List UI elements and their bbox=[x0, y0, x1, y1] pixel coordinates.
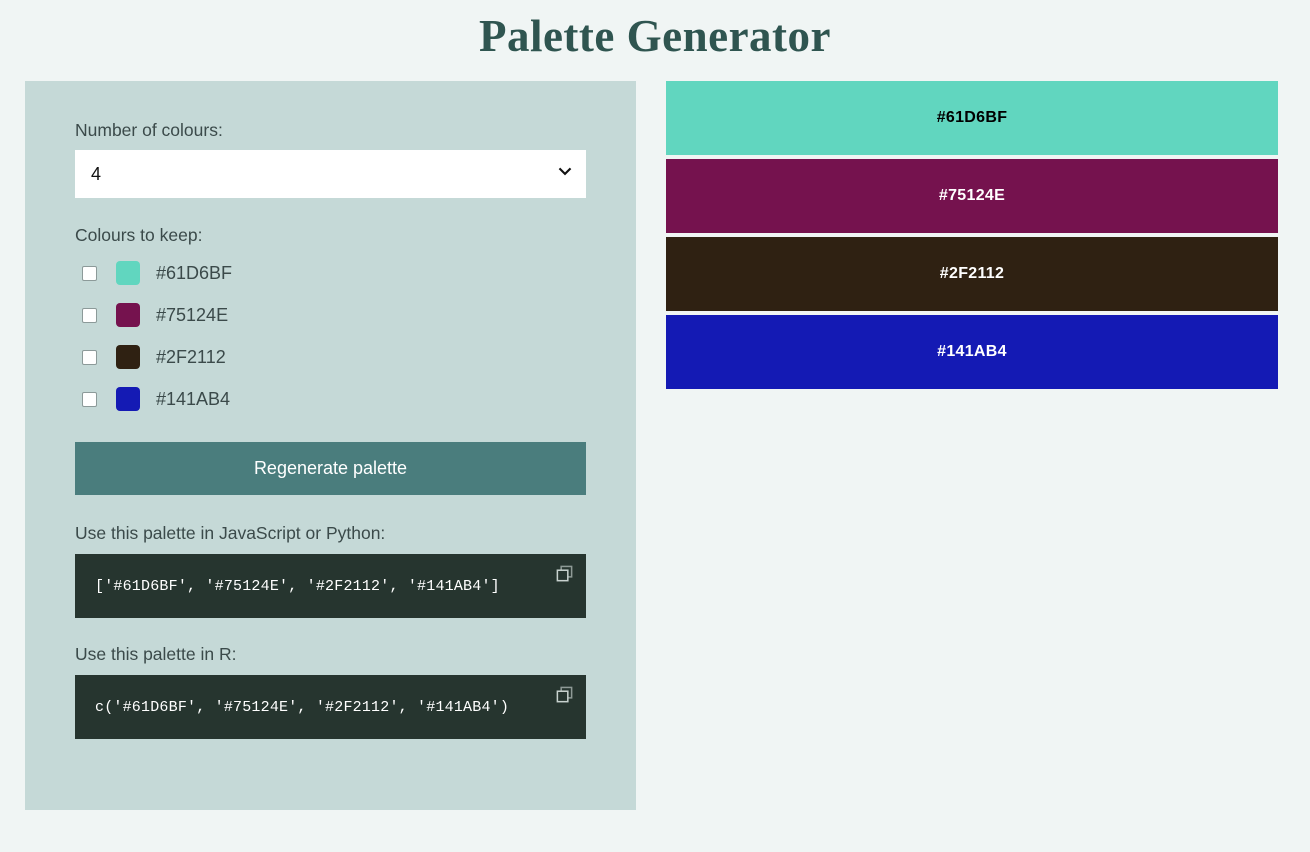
copy-icon[interactable] bbox=[555, 686, 574, 705]
colour-swatch-chip bbox=[116, 387, 140, 411]
palette-swatch[interactable]: #2F2112 bbox=[666, 237, 1278, 311]
keep-colour-checkbox[interactable] bbox=[82, 308, 97, 323]
palette-swatch[interactable]: #61D6BF bbox=[666, 81, 1278, 155]
palette-swatch[interactable]: #75124E bbox=[666, 159, 1278, 233]
main-layout: Number of colours: 12345678910 Colours t… bbox=[0, 81, 1310, 810]
regenerate-palette-button[interactable]: Regenerate palette bbox=[75, 442, 586, 495]
colours-to-keep-label: Colours to keep: bbox=[75, 224, 586, 247]
javascript-snippet-caption: Use this palette in JavaScript or Python… bbox=[75, 523, 586, 544]
colour-hex-label: #141AB4 bbox=[156, 389, 230, 410]
colour-swatch-chip bbox=[116, 261, 140, 285]
colour-keep-row: #61D6BF bbox=[75, 252, 586, 294]
r-snippet-caption: Use this palette in R: bbox=[75, 644, 586, 665]
colour-keep-row: #2F2112 bbox=[75, 336, 586, 378]
keep-colour-checkbox[interactable] bbox=[82, 266, 97, 281]
colour-swatch-chip bbox=[116, 303, 140, 327]
palette-preview: #61D6BF#75124E#2F2112#141AB4 bbox=[666, 81, 1278, 393]
colours-to-keep-list: #61D6BF#75124E#2F2112#141AB4 bbox=[75, 252, 586, 420]
javascript-code-block[interactable]: ['#61D6BF', '#75124E', '#2F2112', '#141A… bbox=[75, 554, 586, 618]
keep-colour-checkbox[interactable] bbox=[82, 392, 97, 407]
number-of-colours-select[interactable]: 12345678910 bbox=[75, 150, 586, 198]
keep-colour-checkbox[interactable] bbox=[82, 350, 97, 365]
r-snippet-text: c('#61D6BF', '#75124E', '#2F2112', '#141… bbox=[95, 699, 509, 716]
colour-keep-row: #75124E bbox=[75, 294, 586, 336]
number-of-colours-label: Number of colours: bbox=[75, 119, 586, 142]
control-panel: Number of colours: 12345678910 Colours t… bbox=[25, 81, 636, 810]
colour-hex-label: #61D6BF bbox=[156, 263, 232, 284]
page-title: Palette Generator bbox=[0, 0, 1310, 67]
colour-swatch-chip bbox=[116, 345, 140, 369]
number-of-colours-select-wrapper: 12345678910 bbox=[75, 150, 586, 198]
palette-swatch[interactable]: #141AB4 bbox=[666, 315, 1278, 389]
r-code-block[interactable]: c('#61D6BF', '#75124E', '#2F2112', '#141… bbox=[75, 675, 586, 739]
copy-icon[interactable] bbox=[555, 565, 574, 584]
colour-hex-label: #75124E bbox=[156, 305, 228, 326]
colour-hex-label: #2F2112 bbox=[156, 347, 226, 368]
javascript-snippet-text: ['#61D6BF', '#75124E', '#2F2112', '#141A… bbox=[95, 578, 500, 595]
colour-keep-row: #141AB4 bbox=[75, 378, 586, 420]
